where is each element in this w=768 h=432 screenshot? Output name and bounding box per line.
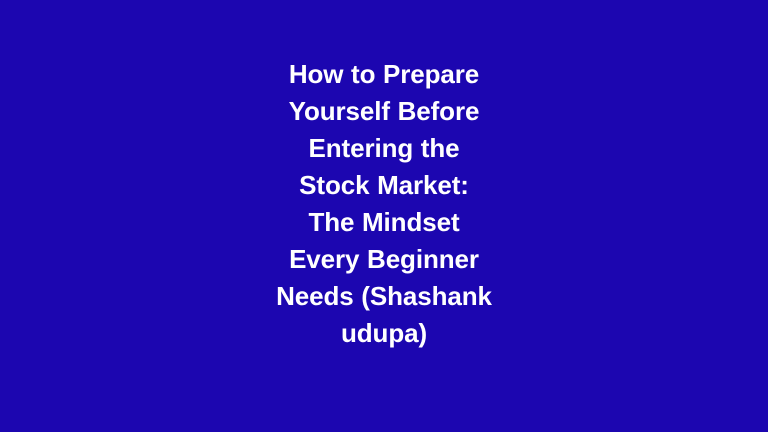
title-block: How to Prepare Yourself Before Entering … bbox=[276, 56, 492, 352]
page-title: How to Prepare Yourself Before Entering … bbox=[276, 56, 492, 352]
thumbnail-card: How to Prepare Yourself Before Entering … bbox=[0, 0, 768, 432]
